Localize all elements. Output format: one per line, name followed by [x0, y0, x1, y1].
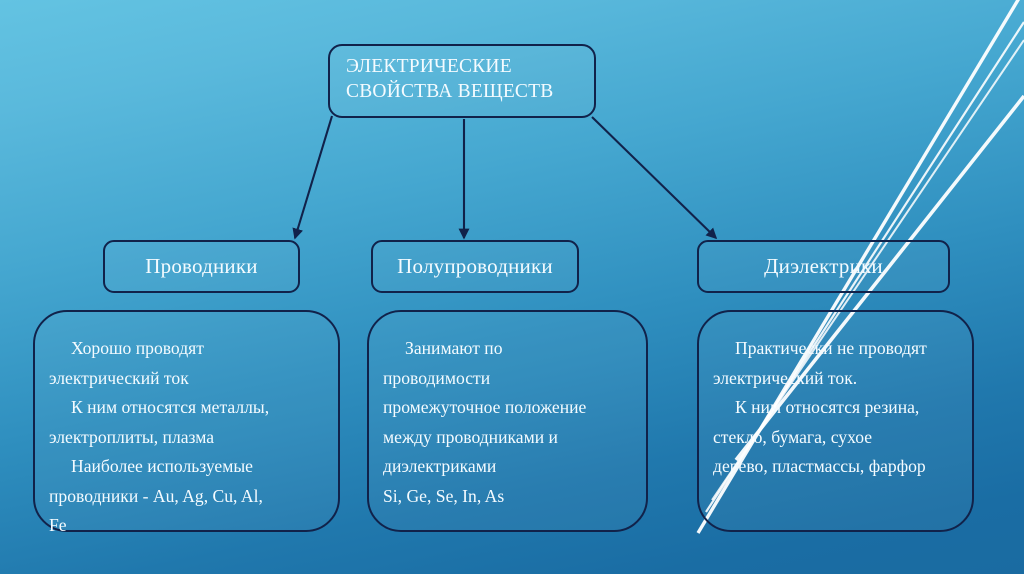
slide-canvas: ЭЛЕКТРИЧЕСКИЕ СВОЙСТВА ВЕЩЕСТВ Проводник…	[0, 0, 1024, 574]
arrow-to-conductors	[295, 116, 332, 238]
description-line: диэлектриками	[383, 452, 630, 482]
description-line: дерево, пластмассы, фарфор	[713, 452, 956, 482]
description-line: электрический ток.	[713, 364, 956, 394]
category-label: Диэлектрики	[764, 254, 883, 279]
description-line: К ним относятся металлы,	[49, 393, 322, 423]
description-line: электрический ток	[49, 364, 322, 394]
description-line: промежуточное положение	[383, 393, 630, 423]
arrow-to-dielectrics	[592, 117, 716, 238]
description-line: Si, Ge, Se, In, As	[383, 482, 630, 512]
description-line: Хорошо проводят	[49, 334, 322, 364]
category-node-conductors: Проводники	[103, 240, 300, 293]
description-line: стекло, бумага, сухое	[713, 423, 956, 453]
description-line: Практически не проводят	[713, 334, 956, 364]
description-line: между проводниками и	[383, 423, 630, 453]
description-node-dielectrics: Практически не проводят электрический то…	[697, 310, 974, 532]
description-line: проводники - Au, Ag, Cu, Al,	[49, 482, 322, 512]
title-line-2: СВОЙСТВА ВЕЩЕСТВ	[346, 79, 594, 104]
diagram-title-node: ЭЛЕКТРИЧЕСКИЕ СВОЙСТВА ВЕЩЕСТВ	[328, 44, 596, 118]
description-line: электроплиты, плазма	[49, 423, 322, 453]
category-node-dielectrics: Диэлектрики	[697, 240, 950, 293]
description-node-semiconductors: Занимают по проводимости промежуточное п…	[367, 310, 648, 532]
description-line: проводимости	[383, 364, 630, 394]
description-line: Наиболее используемые	[49, 452, 322, 482]
category-label: Полупроводники	[397, 254, 553, 279]
description-node-conductors: Хорошо проводят электрический ток К ним …	[33, 310, 340, 532]
category-node-semiconductors: Полупроводники	[371, 240, 579, 293]
description-line: Fe	[49, 511, 322, 541]
title-line-1: ЭЛЕКТРИЧЕСКИЕ	[346, 54, 594, 79]
category-label: Проводники	[145, 254, 257, 279]
description-line: К ним относятся резина,	[713, 393, 956, 423]
description-line: Занимают по	[383, 334, 630, 364]
